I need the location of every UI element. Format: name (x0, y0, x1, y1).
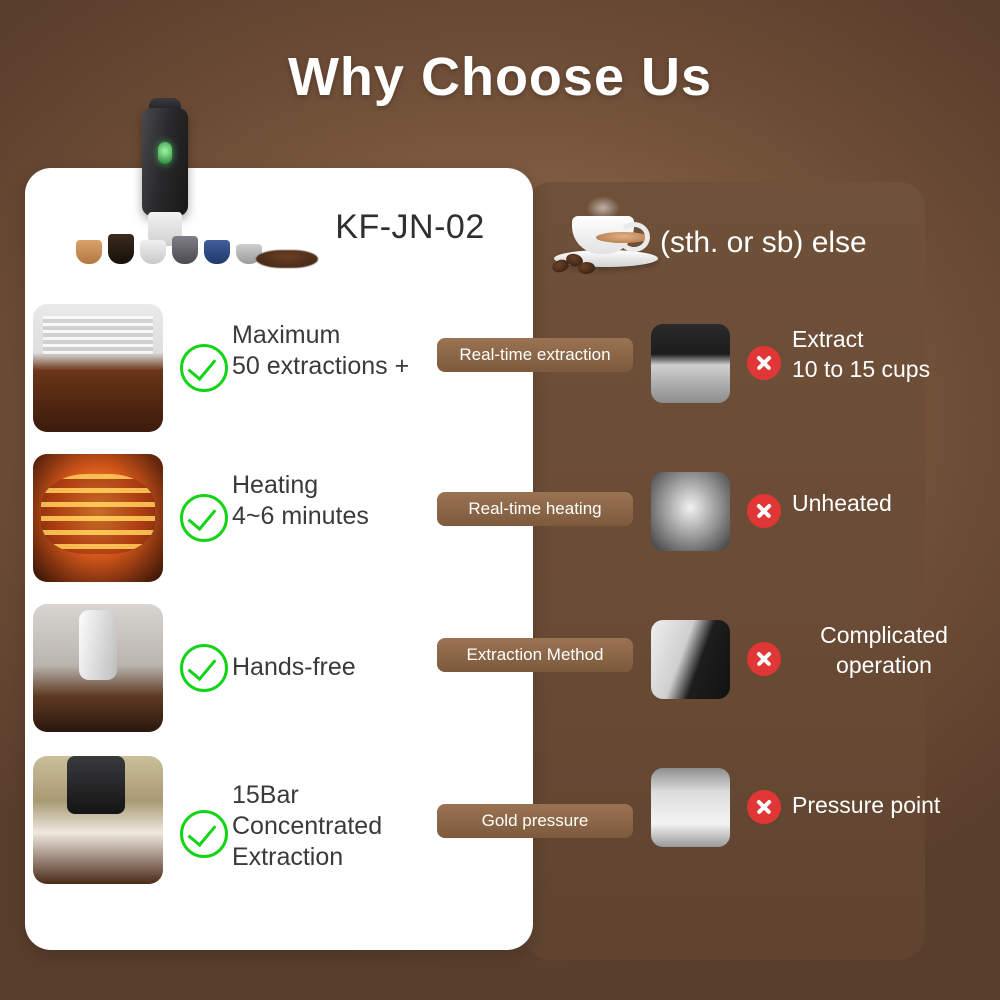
left-feature-image (33, 304, 163, 432)
check-icon (180, 810, 228, 858)
model-name: KF-JN-02 (300, 208, 520, 247)
left-feature-text: Heating 4~6 minutes (232, 470, 472, 532)
capsule-icon (172, 236, 198, 264)
right-feature-image (651, 472, 730, 551)
right-feature-text: Pressure point (792, 790, 992, 820)
capsule-icon (76, 240, 102, 264)
capsule-icon (108, 234, 134, 264)
feature-chip: Real-time extraction (437, 338, 633, 372)
power-indicator-icon (158, 142, 172, 164)
right-feature-text: Complicated operation (784, 620, 984, 680)
x-icon (747, 346, 781, 380)
comparison-row: 15Bar Concentrated Extraction Gold press… (0, 752, 1000, 902)
right-feature-image (651, 324, 730, 403)
feature-chip: Gold pressure (437, 804, 633, 838)
bean-icon (578, 261, 596, 274)
crema-icon (596, 232, 650, 243)
competitor-title: (sth. or sb) else (660, 226, 960, 260)
feature-chip: Real-time heating (437, 492, 633, 526)
comparison-row: Maximum 50 extractions + Real-time extra… (0, 300, 1000, 450)
right-feature-text: Unheated (792, 488, 992, 518)
left-feature-text: 15Bar Concentrated Extraction (232, 780, 472, 873)
page-title: Why Choose Us (0, 46, 1000, 108)
x-icon (747, 790, 781, 824)
right-feature-image (651, 768, 730, 847)
right-feature-text: Extract 10 to 15 cups (792, 324, 992, 384)
capsule-icon (140, 240, 166, 264)
cup-icon (572, 216, 634, 254)
coffee-beans-icon (552, 254, 600, 274)
x-icon (747, 642, 781, 676)
coffee-cup-icon (552, 198, 662, 276)
coffee-grounds-icon (256, 250, 318, 268)
left-feature-text: Hands-free (232, 652, 472, 683)
capsule-icon (204, 240, 230, 264)
check-icon (180, 344, 228, 392)
left-feature-image (33, 604, 163, 732)
x-icon (747, 494, 781, 528)
steam-icon (586, 196, 620, 216)
comparison-row: Hands-free Extraction Method Complicated… (0, 600, 1000, 750)
left-feature-text: Maximum 50 extractions + (232, 320, 472, 382)
comparison-row: Heating 4~6 minutes Real-time heating Un… (0, 450, 1000, 600)
right-feature-image (651, 620, 730, 699)
product-hero-icon (70, 108, 320, 268)
left-feature-image (33, 756, 163, 884)
feature-chip: Extraction Method (437, 638, 633, 672)
check-icon (180, 494, 228, 542)
infographic-root: Why Choose Us KF-JN-02 (sth. or sb) else (0, 0, 1000, 1000)
capsule-group-icon (70, 220, 320, 268)
left-feature-image (33, 454, 163, 582)
check-icon (180, 644, 228, 692)
